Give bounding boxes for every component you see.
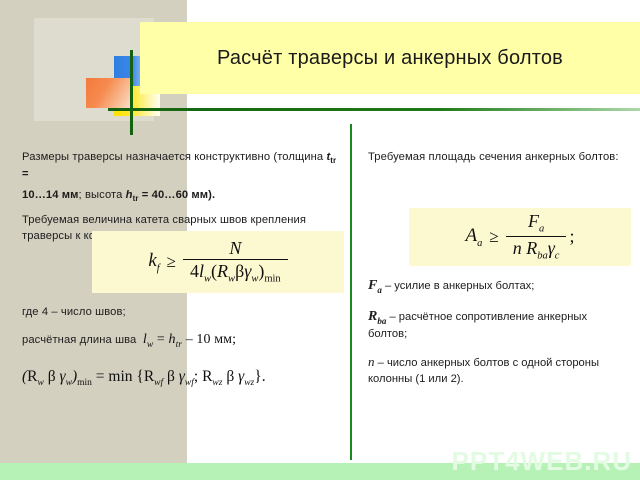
formula-lhs: kf [148, 250, 159, 274]
logo-container [34, 18, 154, 121]
watermark-text: PPT4WEB.RU [452, 446, 632, 477]
legend-item: Rba – расчётное сопротивление анкерных б… [368, 307, 626, 343]
legend-symbol: Fa [368, 278, 382, 293]
formula-relation: ≥ [167, 252, 176, 272]
note-h-symbol: h [168, 332, 175, 347]
den-R-sub: w [228, 274, 235, 285]
anchor-tail: ; [569, 226, 574, 247]
legend-symbol-sub: ba [377, 315, 386, 325]
anchor-lhs-subscript: a [477, 238, 482, 249]
note-weld-length: расчётная длина шва lw = htr – 10 мм; [22, 330, 340, 353]
page-title: Расчёт траверсы и анкерных болтов [217, 47, 563, 70]
legend-symbol-base: R [368, 309, 377, 324]
anchor-num-symbol: F [528, 211, 539, 231]
anchor-den-gamma-sub: c [555, 251, 560, 262]
formula-fraction: N 4lw(Rwβγw)min [183, 239, 288, 286]
paragraph-anchor-area: Требуемая площадь сечения анкерных болто… [368, 150, 626, 166]
den-l-sub: w [204, 274, 211, 285]
anchor-numerator: Fa [521, 212, 551, 236]
legend-symbol: Rba [368, 309, 386, 324]
value-height-range: = 40…60 мм). [139, 189, 216, 201]
legend-text: – усилие в анкерных болтах; [382, 280, 535, 292]
legend-text: – число анкерных болтов с одной стороны … [368, 357, 599, 385]
text-part-1: Размеры траверсы назначается конструктив… [22, 151, 326, 163]
legend-symbol-base: F [368, 278, 377, 293]
symbol-t-subscript: tr [330, 156, 336, 165]
note-weld-length-label: расчётная длина шва [22, 334, 136, 346]
note-tail: – 10 мм; [182, 332, 236, 347]
den-coefficient: 4 [190, 261, 199, 281]
formula-weld-leg: kf ≥ N 4lw(Rwβγw)min [92, 231, 344, 293]
slide-canvas: Расчёт траверсы и анкерных болтов Размер… [0, 0, 640, 480]
text-part-2: ; высота [79, 189, 126, 201]
value-thickness-range: 10…14 мм [22, 189, 79, 201]
anchor-lhs: Aa [466, 225, 483, 249]
legend-item: n – число анкерных болтов с одной сторон… [368, 353, 626, 388]
formula-anchor-area: Aa ≥ Fa n Rbaγc ; [409, 208, 631, 266]
orange-square-icon [86, 78, 130, 108]
note-min-resistance: (Rw β γw)min = min {Rwf β γwf; Rwz β γwz… [22, 366, 340, 391]
column-divider [350, 124, 352, 460]
legend-item: Fa – усилие в анкерных болтах; [368, 276, 626, 297]
left-notes-block: где 4 – число швов; расчётная длина шва … [22, 305, 340, 401]
paragraph-traverse-dimensions-line2: 10…14 мм; высота htr = 40…60 мм). [22, 188, 340, 205]
anchor-den-n: n [513, 238, 522, 258]
den-beta: β [235, 261, 244, 281]
anchor-relation: ≥ [489, 227, 498, 247]
anchor-num-subscript: a [539, 223, 544, 234]
note-equals: = [153, 332, 168, 347]
horizontal-accent-line [108, 108, 640, 111]
text-equals-1: = [22, 168, 29, 180]
legend-text: – расчётное сопротивление анкерных болто… [368, 311, 587, 341]
formula-lhs-subscript: f [157, 263, 160, 274]
right-legend-block: Fa – усилие в анкерных болтах; Rba – рас… [368, 276, 626, 398]
formula-lhs-symbol: k [148, 250, 156, 271]
anchor-lhs-symbol: A [466, 225, 478, 246]
anchor-fraction: Fa n Rbaγc [506, 212, 567, 262]
formula-denominator: 4lw(Rwβγw)min [183, 260, 288, 285]
right-content-column: Требуемая площадь сечения анкерных болто… [368, 150, 626, 175]
den-min-sub: min [264, 274, 280, 285]
title-bar: Расчёт траверсы и анкерных болтов [140, 22, 640, 94]
anchor-den-R: R [526, 238, 537, 258]
anchor-den-R-sub: ba [537, 251, 548, 262]
formula-expression-anchor: Aa ≥ Fa n Rbaγc ; [466, 212, 575, 262]
formula-numerator: N [222, 239, 248, 259]
anchor-denominator: n Rbaγc [506, 237, 567, 262]
anchor-den-gamma: γ [548, 238, 555, 258]
paragraph-traverse-dimensions: Размеры траверсы назначается конструктив… [22, 150, 340, 183]
formula-expression: kf ≥ N 4lw(Rwβγw)min [148, 239, 287, 286]
vertical-accent-line [130, 50, 133, 135]
note-number-of-welds: где 4 – число швов; [22, 305, 340, 321]
symbol-h: h [126, 189, 133, 201]
den-R: R [217, 261, 228, 281]
